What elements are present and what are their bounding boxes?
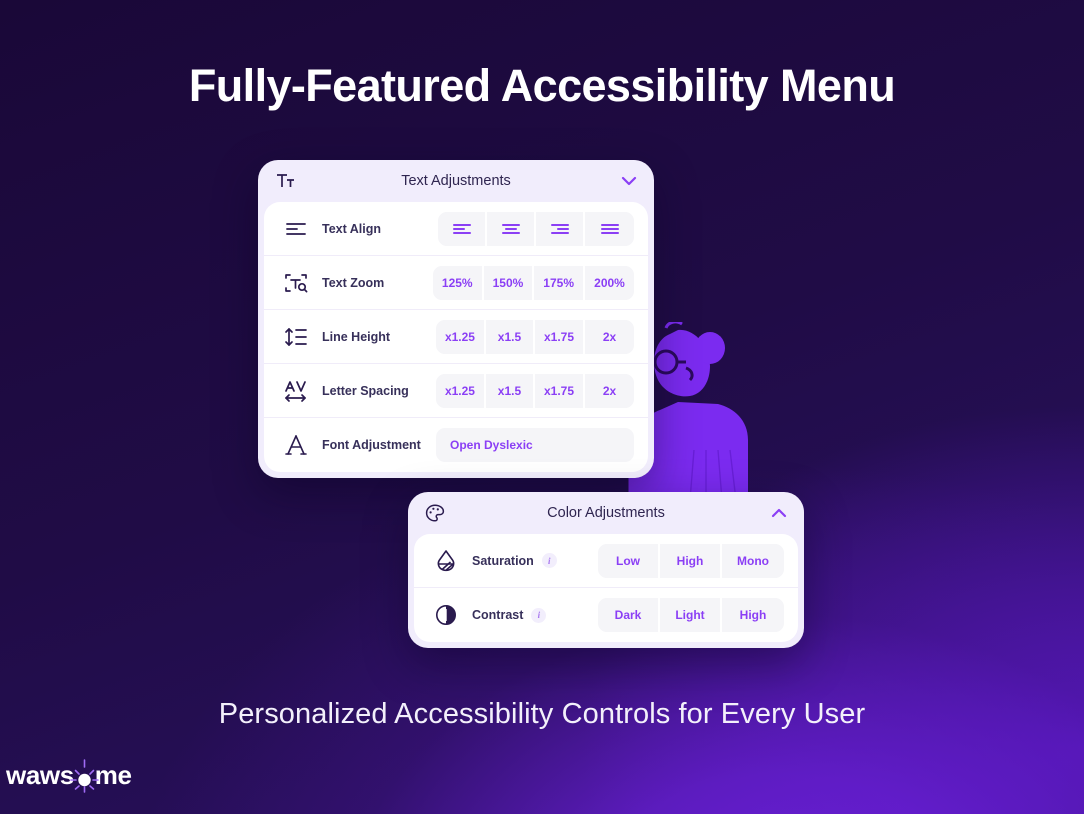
row-label-text-zoom: Text Zoom — [322, 276, 384, 290]
text-zoom-option-2[interactable]: 150% — [484, 266, 535, 300]
row-letter-spacing: Letter Spacing x1.25 x1.5 x1.75 2x — [264, 364, 648, 418]
row-label-contrast: Contrast i — [472, 608, 546, 623]
logo-sparkle-o-icon — [74, 763, 95, 789]
letter-spacing-icon — [282, 377, 310, 405]
color-adjustments-header[interactable]: Color Adjustments — [408, 492, 804, 534]
letter-spacing-option-4[interactable]: 2x — [585, 374, 634, 408]
contrast-option-1[interactable]: Dark — [598, 598, 660, 632]
text-align-icon — [282, 215, 310, 243]
color-adjustments-title: Color Adjustments — [408, 505, 804, 521]
wawsome-logo: waws me — [6, 760, 132, 791]
line-height-option-4[interactable]: 2x — [585, 320, 634, 354]
saturation-option-2[interactable]: High — [660, 544, 722, 578]
poster-stage: Fully-Featured Accessibility Menu — [0, 0, 1084, 814]
text-zoom-option-1[interactable]: 125% — [433, 266, 484, 300]
font-adjustment-value[interactable]: Open Dyslexic — [436, 428, 634, 462]
row-label-text-align: Text Align — [322, 222, 381, 236]
row-label-font-adjustment: Font Adjustment — [322, 438, 421, 452]
line-height-option-2[interactable]: x1.5 — [486, 320, 535, 354]
info-icon[interactable]: i — [531, 608, 546, 623]
row-contrast: Contrast i Dark Light High — [414, 588, 798, 642]
row-label-line-height: Line Height — [322, 330, 390, 344]
text-size-icon — [274, 170, 296, 192]
text-zoom-option-3[interactable]: 175% — [534, 266, 585, 300]
contrast-options: Dark Light High — [598, 598, 784, 632]
text-align-options — [438, 212, 634, 246]
info-icon[interactable]: i — [542, 553, 557, 568]
row-line-height: Line Height x1.25 x1.5 x1.75 2x — [264, 310, 648, 364]
chevron-up-icon[interactable] — [770, 504, 788, 522]
text-zoom-option-4[interactable]: 200% — [585, 266, 634, 300]
color-adjustments-body: Saturation i Low High Mono Contrast i — [414, 534, 798, 642]
text-adjustments-title: Text Adjustments — [258, 173, 654, 189]
row-saturation: Saturation i Low High Mono — [414, 534, 798, 588]
contrast-option-2[interactable]: Light — [660, 598, 722, 632]
letter-spacing-option-3[interactable]: x1.75 — [535, 374, 585, 408]
page-subtitle: Personalized Accessibility Controls for … — [0, 698, 1084, 731]
row-label-saturation: Saturation i — [472, 553, 557, 568]
line-height-options: x1.25 x1.5 x1.75 2x — [436, 320, 634, 354]
contrast-icon — [432, 601, 460, 629]
saturation-text: Saturation — [472, 554, 534, 568]
color-adjustments-card: Color Adjustments Saturation i Low High … — [408, 492, 804, 648]
align-left-icon[interactable] — [438, 212, 487, 246]
letter-spacing-option-2[interactable]: x1.5 — [486, 374, 535, 408]
row-text-zoom: Text Zoom 125% 150% 175% 200% — [264, 256, 648, 310]
align-right-icon[interactable] — [536, 212, 585, 246]
letter-spacing-options: x1.25 x1.5 x1.75 2x — [436, 374, 634, 408]
droplet-icon — [432, 547, 460, 575]
text-adjustments-body: Text Align — [264, 202, 648, 472]
line-height-option-1[interactable]: x1.25 — [436, 320, 486, 354]
text-zoom-options: 125% 150% 175% 200% — [433, 266, 634, 300]
chevron-down-icon[interactable] — [620, 172, 638, 190]
row-label-letter-spacing: Letter Spacing — [322, 384, 409, 398]
palette-icon — [424, 502, 446, 524]
text-adjustments-card: Text Adjustments Text Align — [258, 160, 654, 478]
saturation-options: Low High Mono — [598, 544, 784, 578]
font-adjustment-icon — [282, 431, 310, 459]
page-title: Fully-Featured Accessibility Menu — [0, 60, 1084, 112]
contrast-text: Contrast — [472, 608, 523, 622]
logo-text-after: me — [95, 760, 132, 791]
text-zoom-icon — [282, 269, 310, 297]
saturation-option-3[interactable]: Mono — [722, 544, 784, 578]
line-height-icon — [282, 323, 310, 351]
row-text-align: Text Align — [264, 202, 648, 256]
align-justify-icon[interactable] — [585, 212, 634, 246]
text-adjustments-header[interactable]: Text Adjustments — [258, 160, 654, 202]
contrast-option-3[interactable]: High — [722, 598, 784, 632]
row-font-adjustment: Font Adjustment Open Dyslexic — [264, 418, 648, 472]
logo-text-before: waws — [6, 760, 74, 791]
letter-spacing-option-1[interactable]: x1.25 — [436, 374, 486, 408]
line-height-option-3[interactable]: x1.75 — [535, 320, 585, 354]
saturation-option-1[interactable]: Low — [598, 544, 660, 578]
align-center-icon[interactable] — [487, 212, 536, 246]
